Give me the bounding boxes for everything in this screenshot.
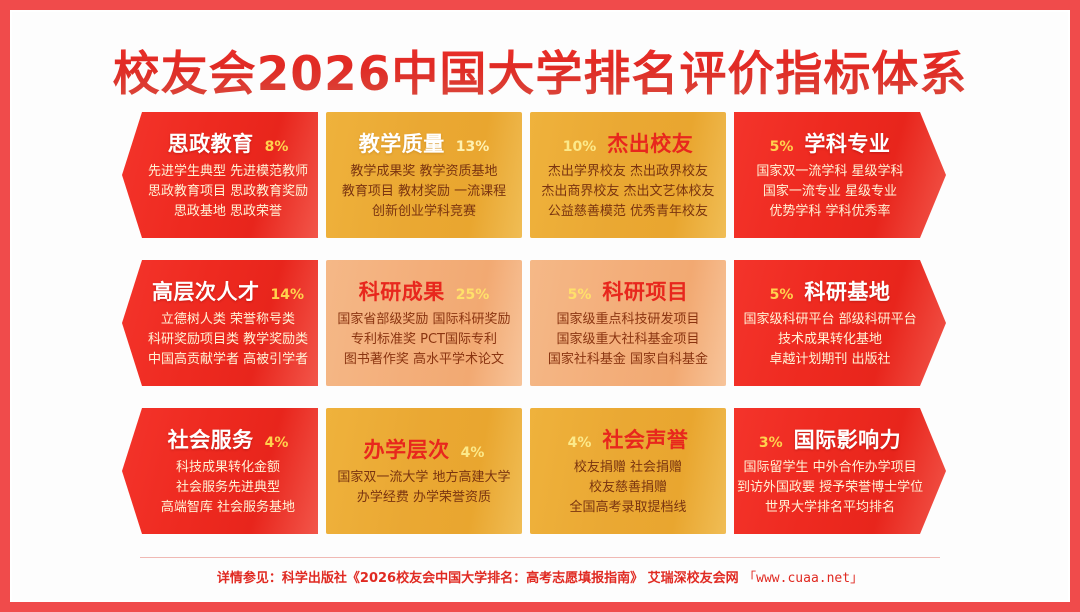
indicator-line: 卓越计划期刊 出版社 [769, 353, 890, 368]
indicator-line: 思政教育项目 思政教育奖励 [148, 185, 308, 200]
indicator-line-list: 国家省部级奖励 国际科研奖励专利标准奖 PCT国际专利图书著作奖 高水平学术论文 [336, 313, 512, 368]
indicator-line-list: 先进学生典型 先进模范教师思政教育项目 思政教育奖励思政基地 思政荣誉 [148, 165, 308, 220]
indicator-line-list: 国际留学生 中外合作办学项目到访外国政要 授予荣誉博士学位世界大学排名平均排名 [744, 461, 916, 516]
indicator-line: 先进学生典型 先进模范教师 [148, 165, 308, 180]
indicator-card-header: 10%杰出校友 [540, 128, 716, 158]
indicator-line: 教育项目 教材奖励 一流课程 [342, 185, 506, 200]
indicator-line: 优势学科 学科优秀率 [769, 205, 890, 220]
indicator-weight-percent: 5% [770, 139, 794, 155]
indicator-title: 杰出校友 [607, 128, 693, 158]
indicator-card-header: 社会服务4% [148, 424, 308, 454]
indicator-weight-percent: 14% [270, 287, 304, 303]
indicator-line: 校友捐赠 社会捐赠 [574, 461, 682, 476]
indicator-card[interactable]: 社会服务4%科技成果转化金额社会服务先进典型高端智库 社会服务基地 [122, 408, 318, 534]
indicator-card[interactable]: 教学质量13%教学成果奖 教学资质基地教育项目 教材奖励 一流课程创新创业学科竞… [326, 112, 522, 238]
indicator-grid: 思政教育8%先进学生典型 先进模范教师思政教育项目 思政教育奖励思政基地 思政荣… [122, 112, 958, 534]
page-title: 校友会2026中国大学排名评价指标体系 [113, 35, 968, 104]
indicator-title: 社会服务 [168, 424, 254, 454]
indicator-weight-percent: 25% [456, 287, 490, 303]
indicator-line: 到访外国政要 授予荣誉博士学位 [737, 481, 923, 496]
indicator-title: 高层次人才 [152, 276, 260, 306]
indicator-weight-percent: 4% [461, 445, 485, 461]
indicator-line-list: 立德树人类 荣誉称号类科研奖励项目类 教学奖励类中国高贡献学者 高被引学者 [148, 313, 308, 368]
indicator-card[interactable]: 5%科研项目国家级重点科技研发项目国家级重大社科基金项目国家社科基金 国家自科基… [530, 260, 726, 386]
indicator-line: 杰出商界校友 杰出文艺体校友 [541, 185, 714, 200]
indicator-line-list: 教学成果奖 教学资质基地教育项目 教材奖励 一流课程创新创业学科竞赛 [336, 165, 512, 220]
indicator-line: 科研奖励项目类 教学奖励类 [148, 333, 308, 348]
indicator-line-list: 国家级重点科技研发项目国家级重大社科基金项目国家社科基金 国家自科基金 [540, 313, 716, 368]
indicator-line: 世界大学排名平均排名 [765, 501, 895, 516]
indicator-weight-percent: 5% [770, 287, 794, 303]
indicator-line: 立德树人类 荣誉称号类 [161, 313, 295, 328]
indicator-title: 教学质量 [359, 128, 445, 158]
indicator-weight-percent: 13% [456, 139, 490, 155]
indicator-line: 创新创业学科竞赛 [372, 205, 476, 220]
indicator-title: 社会声誉 [602, 424, 688, 454]
indicator-card[interactable]: 4%社会声誉校友捐赠 社会捐赠校友慈善捐赠全国高考录取提档线 [530, 408, 726, 534]
indicator-line: 国家级重点科技研发项目 [556, 313, 699, 328]
indicator-line: 科技成果转化金额 [176, 461, 280, 476]
indicator-line: 办学经费 办学荣誉资质 [357, 491, 491, 506]
poster-inner: 校友会2026中国大学排名评价指标体系 思政教育8%先进学生典型 先进模范教师思… [10, 10, 1070, 602]
indicator-line: 国家双一流大学 地方高建大学 [337, 471, 510, 486]
indicator-line: 教学成果奖 教学资质基地 [350, 165, 497, 180]
indicator-card-header: 5%学科专业 [744, 128, 916, 158]
indicator-card-header: 高层次人才14% [148, 276, 308, 306]
indicator-line: 国际留学生 中外合作办学项目 [743, 461, 916, 476]
indicator-line: 杰出学界校友 杰出政界校友 [548, 165, 708, 180]
indicator-line-list: 国家双一流大学 地方高建大学办学经费 办学荣誉资质 [336, 471, 512, 506]
indicator-line: 国家社科基金 国家自科基金 [548, 353, 708, 368]
indicator-line: 专利标准奖 PCT国际专利 [351, 333, 497, 348]
footer-note: 详情参见：科学出版社《2026校友会中国大学排名：高考志愿填报指南》 艾瑞深校友… [140, 557, 940, 586]
indicator-title: 国际影响力 [794, 424, 902, 454]
indicator-line: 高端智库 社会服务基地 [161, 501, 295, 516]
indicator-weight-percent: 10% [563, 139, 597, 155]
indicator-line-list: 杰出学界校友 杰出政界校友杰出商界校友 杰出文艺体校友公益慈善模范 优秀青年校友 [540, 165, 716, 220]
indicator-title: 科研项目 [602, 276, 688, 306]
indicator-title: 科研基地 [804, 276, 890, 306]
indicator-card[interactable]: 高层次人才14%立德树人类 荣誉称号类科研奖励项目类 教学奖励类中国高贡献学者 … [122, 260, 318, 386]
indicator-card[interactable]: 科研成果25%国家省部级奖励 国际科研奖励专利标准奖 PCT国际专利图书著作奖 … [326, 260, 522, 386]
indicator-card[interactable]: 5%科研基地国家级科研平台 部级科研平台技术成果转化基地卓越计划期刊 出版社 [734, 260, 946, 386]
indicator-card[interactable]: 5%学科专业国家双一流学科 星级学科国家一流专业 星级专业优势学科 学科优秀率 [734, 112, 946, 238]
indicator-card[interactable]: 10%杰出校友杰出学界校友 杰出政界校友杰出商界校友 杰出文艺体校友公益慈善模范… [530, 112, 726, 238]
page-title-wrap: 校友会2026中国大学排名评价指标体系 [113, 38, 968, 100]
indicator-card[interactable]: 思政教育8%先进学生典型 先进模范教师思政教育项目 思政教育奖励思政基地 思政荣… [122, 112, 318, 238]
indicator-card-header: 办学层次4% [336, 434, 512, 464]
indicator-card[interactable]: 办学层次4%国家双一流大学 地方高建大学办学经费 办学荣誉资质 [326, 408, 522, 534]
indicator-card-header: 思政教育8% [148, 128, 308, 158]
poster-frame: 校友会2026中国大学排名评价指标体系 思政教育8%先进学生典型 先进模范教师思… [0, 0, 1080, 612]
indicator-card-header: 科研成果25% [336, 276, 512, 306]
indicator-card-header: 4%社会声誉 [540, 424, 716, 454]
indicator-title: 办学层次 [364, 434, 450, 464]
indicator-weight-percent: 3% [759, 435, 783, 451]
indicator-line: 全国高考录取提档线 [569, 501, 686, 516]
indicator-line: 校友慈善捐赠 [589, 481, 667, 496]
indicator-card[interactable]: 3%国际影响力国际留学生 中外合作办学项目到访外国政要 授予荣誉博士学位世界大学… [734, 408, 946, 534]
indicator-card-header: 5%科研项目 [540, 276, 716, 306]
indicator-line: 社会服务先进典型 [176, 481, 280, 496]
indicator-card-header: 5%科研基地 [744, 276, 916, 306]
indicator-line-list: 校友捐赠 社会捐赠校友慈善捐赠全国高考录取提档线 [540, 461, 716, 516]
indicator-line: 国家级科研平台 部级科研平台 [743, 313, 916, 328]
indicator-line: 国家省部级奖励 国际科研奖励 [337, 313, 510, 328]
indicator-weight-percent: 8% [265, 139, 289, 155]
indicator-line: 国家级重大社科基金项目 [556, 333, 699, 348]
indicator-line-list: 国家级科研平台 部级科研平台技术成果转化基地卓越计划期刊 出版社 [744, 313, 916, 368]
indicator-title: 思政教育 [168, 128, 254, 158]
indicator-weight-percent: 4% [265, 435, 289, 451]
indicator-line: 中国高贡献学者 高被引学者 [148, 353, 308, 368]
indicator-weight-percent: 5% [568, 287, 592, 303]
indicator-line: 图书著作奖 高水平学术论文 [344, 353, 504, 368]
indicator-line: 公益慈善模范 优秀青年校友 [548, 205, 708, 220]
indicator-line: 技术成果转化基地 [778, 333, 882, 348]
indicator-line: 国家双一流学科 星级学科 [756, 165, 903, 180]
indicator-title: 科研成果 [359, 276, 445, 306]
indicator-line: 国家一流专业 星级专业 [763, 185, 897, 200]
indicator-line: 思政基地 思政荣誉 [174, 205, 282, 220]
footer-site: 「www.cuaa.net」 [743, 571, 863, 586]
indicator-line-list: 科技成果转化金额社会服务先进典型高端智库 社会服务基地 [148, 461, 308, 516]
indicator-line-list: 国家双一流学科 星级学科国家一流专业 星级专业优势学科 学科优秀率 [744, 165, 916, 220]
indicator-card-header: 教学质量13% [336, 128, 512, 158]
footer-text: 详情参见：科学出版社《2026校友会中国大学排名：高考志愿填报指南》 艾瑞深校友… [217, 571, 739, 586]
indicator-title: 学科专业 [804, 128, 890, 158]
indicator-weight-percent: 4% [568, 435, 592, 451]
indicator-card-header: 3%国际影响力 [744, 424, 916, 454]
